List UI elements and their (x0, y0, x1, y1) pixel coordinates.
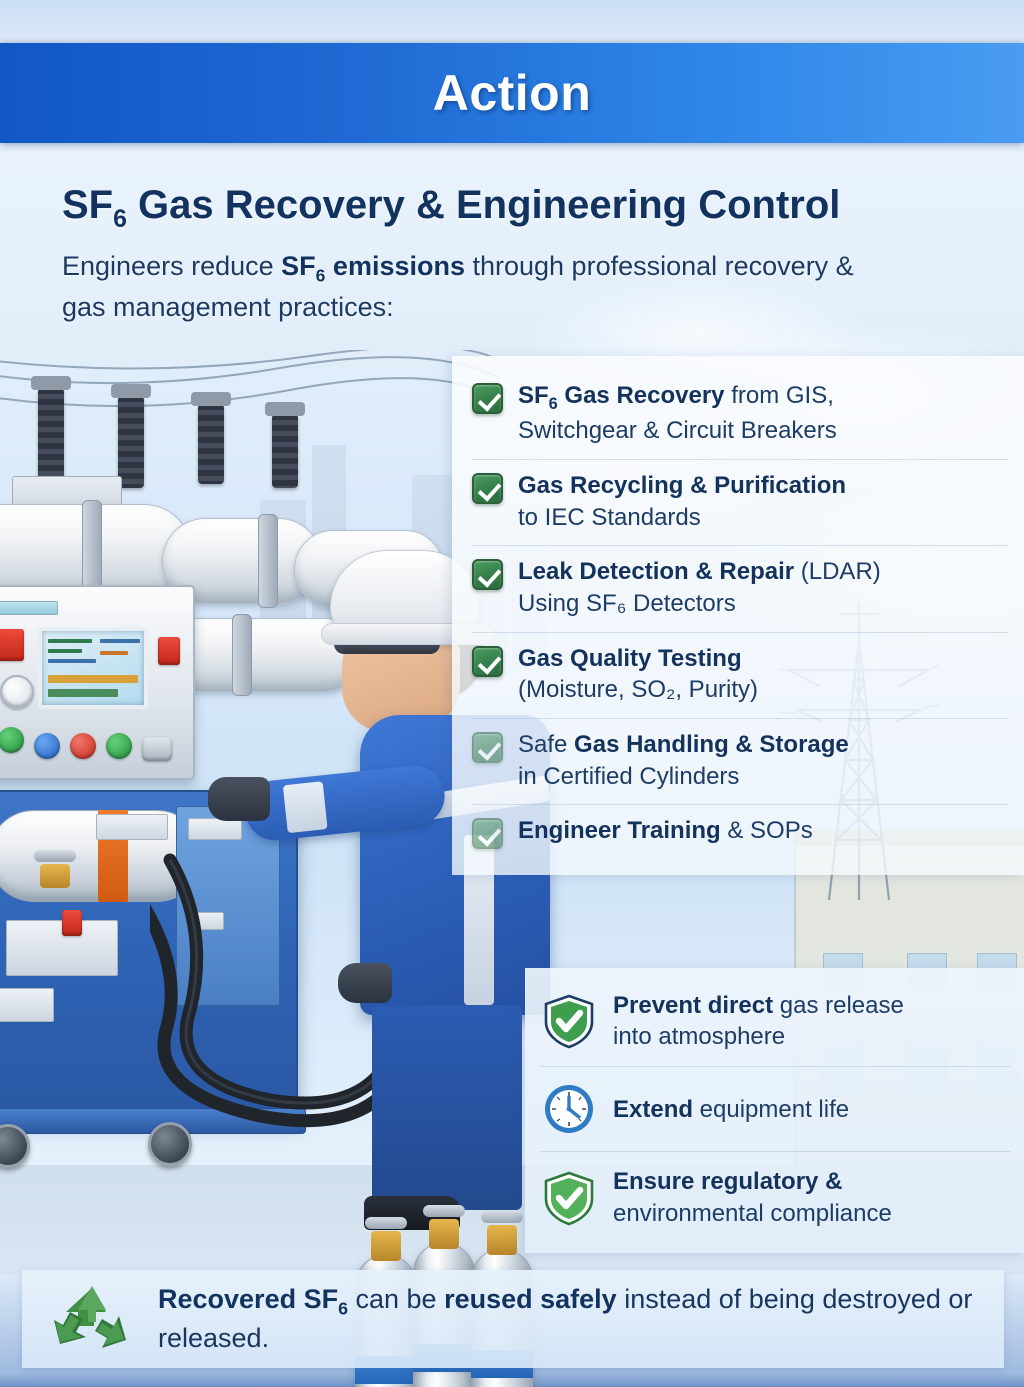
recycle-icon (48, 1282, 136, 1356)
checklist-item-subtext: to IEC Standards (518, 502, 846, 534)
checklist-item[interactable]: Gas Recycling & Purification to IEC Stan… (472, 460, 1008, 546)
checklist-item[interactable]: Leak Detection & Repair (LDAR) Using SF₆… (472, 546, 1008, 632)
engineer-glove-upper (208, 777, 270, 821)
checklist-item-text: Gas Recycling & Purification to IEC Stan… (518, 470, 846, 533)
benefit-text: Extend equipment life (613, 1094, 849, 1125)
cabinet-display-strip (0, 601, 58, 615)
checkbox-checked-icon[interactable] (472, 818, 503, 849)
checklist-item[interactable]: Engineer Training & SOPs (472, 805, 1008, 861)
benefit-text: Prevent direct gas release into atmosphe… (613, 990, 904, 1052)
checklist-panel: SF6 Gas Recovery from GIS, Switchgear & … (452, 356, 1024, 875)
page-subtitle: Engineers reduce SF6 emissions through p… (62, 247, 882, 327)
benefit-item[interactable]: Ensure regulatory & environmental compli… (541, 1152, 1010, 1242)
indicator-green-2[interactable] (106, 733, 132, 759)
hose-port (142, 737, 172, 761)
footer-text: Recovered SF6 can be reused safely inste… (158, 1282, 978, 1357)
emergency-stop-button[interactable] (0, 629, 24, 661)
checklist-item-text: Gas Quality Testing (Moisture, SO₂, Puri… (518, 643, 758, 706)
infographic-poster: Action SF6 Gas Recovery & Engineering Co… (0, 0, 1024, 1387)
checkbox-checked-icon[interactable] (472, 559, 503, 590)
cylinder-valve-2 (429, 1219, 459, 1249)
checkbox-checked-icon[interactable] (472, 646, 503, 677)
alarm-button[interactable] (158, 637, 180, 665)
checklist-item-subtext: (Moisture, SO₂, Purity) (518, 674, 758, 706)
checklist-item-text: SF6 Gas Recovery from GIS, Switchgear & … (518, 380, 837, 447)
cylinder-valve-1 (371, 1231, 401, 1261)
control-cabinet (0, 585, 195, 780)
benefit-subtext: environmental compliance (613, 1198, 892, 1229)
checkbox-checked-icon[interactable] (472, 383, 503, 414)
footer-callout: Recovered SF6 can be reused safely inste… (22, 1270, 1004, 1368)
banner-title: Action (433, 64, 592, 122)
cart-red-switch[interactable] (62, 910, 82, 936)
checklist-item-text: Engineer Training & SOPs (518, 815, 813, 847)
checklist-item-text: Safe Gas Handling & Storage in Certified… (518, 729, 849, 792)
checklist-item[interactable]: Safe Gas Handling & Storage in Certified… (472, 719, 1008, 805)
hmi-touchscreen (38, 627, 148, 709)
benefits-panel: Prevent direct gas release into atmosphe… (525, 968, 1024, 1253)
indicator-red[interactable] (70, 733, 96, 759)
benefit-subtext: into atmosphere (613, 1021, 904, 1052)
headline-block: SF6 Gas Recovery & Engineering Control E… (62, 182, 962, 326)
shield-check-icon (541, 1170, 597, 1226)
shield-check-icon (541, 993, 597, 1049)
engineer-arm (242, 763, 447, 844)
benefit-item[interactable]: Extend equipment life (541, 1067, 1010, 1152)
checkbox-checked-icon[interactable] (472, 473, 503, 504)
checklist-item-subtext: in Certified Cylinders (518, 761, 849, 793)
benefit-text: Ensure regulatory & environmental compli… (613, 1166, 892, 1228)
checklist-item[interactable]: SF6 Gas Recovery from GIS, Switchgear & … (472, 370, 1008, 460)
page-title: SF6 Gas Recovery & Engineering Control (62, 182, 962, 235)
indicator-green-1[interactable] (0, 727, 24, 753)
checklist-item-text: Leak Detection & Repair (LDAR) Using SF₆… (518, 556, 881, 619)
checklist-item[interactable]: Gas Quality Testing (Moisture, SO₂, Puri… (472, 633, 1008, 719)
checklist-item-subtext: Using SF₆ Detectors (518, 588, 881, 620)
benefit-item[interactable]: Prevent direct gas release into atmosphe… (541, 976, 1010, 1067)
selector-knob[interactable] (0, 675, 34, 709)
checklist-item-subtext: Switchgear & Circuit Breakers (518, 415, 837, 447)
checkbox-checked-icon[interactable] (472, 732, 503, 763)
engineer-legs (372, 1005, 522, 1210)
engineer-glove-lower (338, 963, 392, 1003)
cylinder-valve-3 (487, 1225, 517, 1255)
indicator-blue[interactable] (34, 733, 60, 759)
header-banner: Action (0, 43, 1024, 143)
clock-icon (541, 1081, 597, 1137)
